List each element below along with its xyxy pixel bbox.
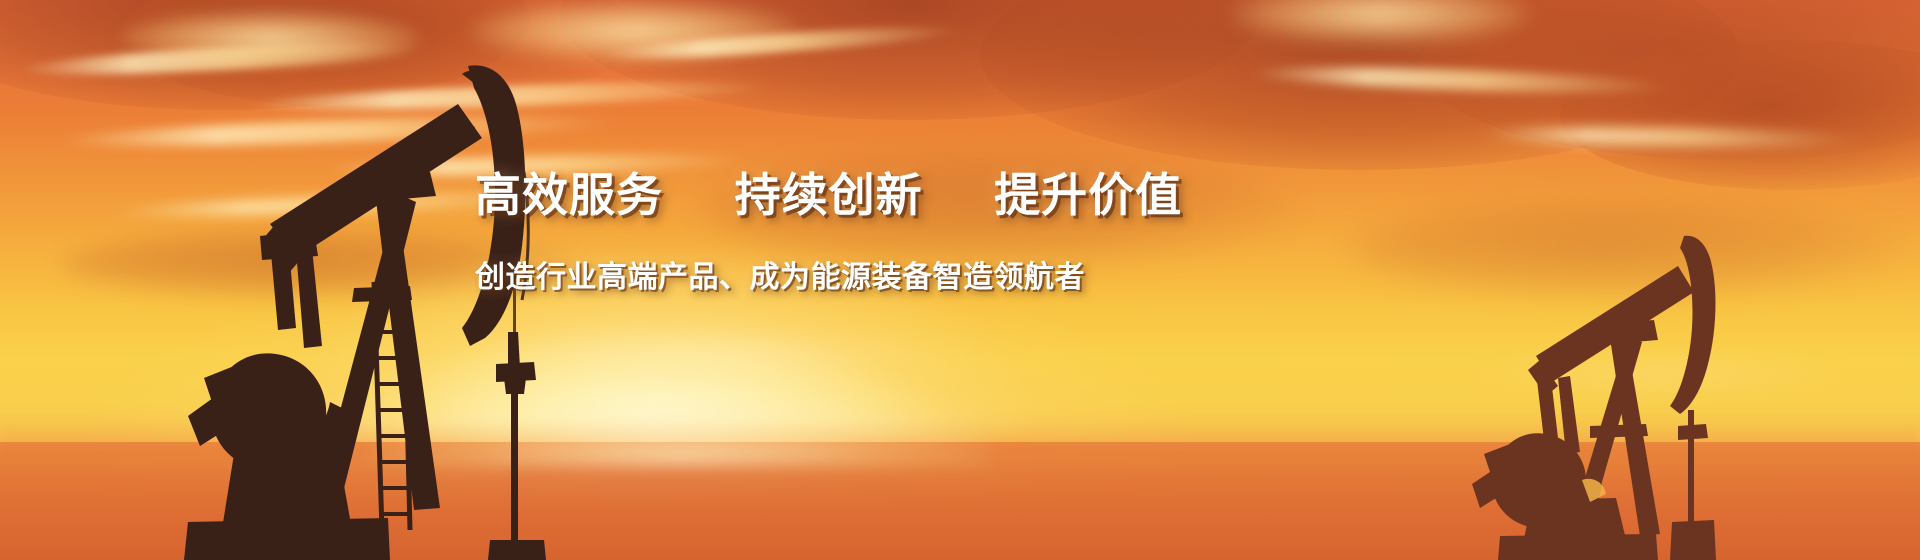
pumpjack-left-icon [38,60,578,560]
pumpjack-right-icon [1440,230,1770,560]
banner-headline: 高效服务 持续创新 提升价值 [475,168,1175,222]
headline-part-3: 提升价值 [994,169,1182,221]
hero-banner: 高效服务 持续创新 提升价值 创造行业高端产品、成为能源装备智造领航者 [0,0,1920,560]
headline-part-2: 持续创新 [735,169,923,221]
headline-part-1: 高效服务 [475,169,663,221]
banner-subtitle: 创造行业高端产品、成为能源装备智造领航者 [475,252,1175,296]
banner-copy: 高效服务 持续创新 提升价值 创造行业高端产品、成为能源装备智造领航者 [475,168,1175,296]
